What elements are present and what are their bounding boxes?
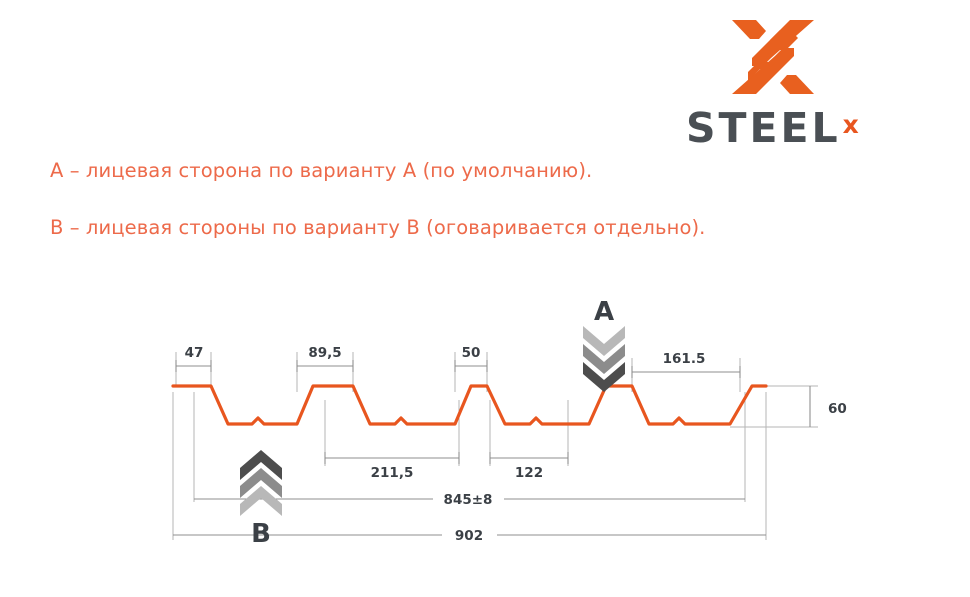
extension-lines (173, 352, 818, 540)
dimension-ticks (176, 360, 740, 464)
dim-label-50: 50 (462, 345, 481, 361)
marker-b-label: B (251, 519, 271, 549)
dim-label-902: 902 (455, 528, 483, 544)
dim-label-122: 122 (515, 465, 543, 481)
chevron-down-triple-icon (583, 326, 625, 392)
marker-a: A (583, 297, 625, 392)
dim-label-211-5: 211,5 (371, 465, 414, 481)
profile-outline (173, 386, 766, 424)
dimension-lines (176, 366, 810, 458)
marker-a-label: A (594, 297, 614, 327)
profile-technical-drawing: 47 89,5 50 161.5 60 211,5 122 845±8 902 … (0, 0, 970, 597)
chevron-up-triple-icon (240, 450, 282, 516)
dim-label-47: 47 (185, 345, 204, 361)
dim-label-161-5: 161.5 (663, 351, 706, 367)
dim-label-845: 845±8 (444, 492, 493, 508)
dim-label-89-5: 89,5 (308, 345, 341, 361)
dim-label-60: 60 (828, 401, 847, 417)
